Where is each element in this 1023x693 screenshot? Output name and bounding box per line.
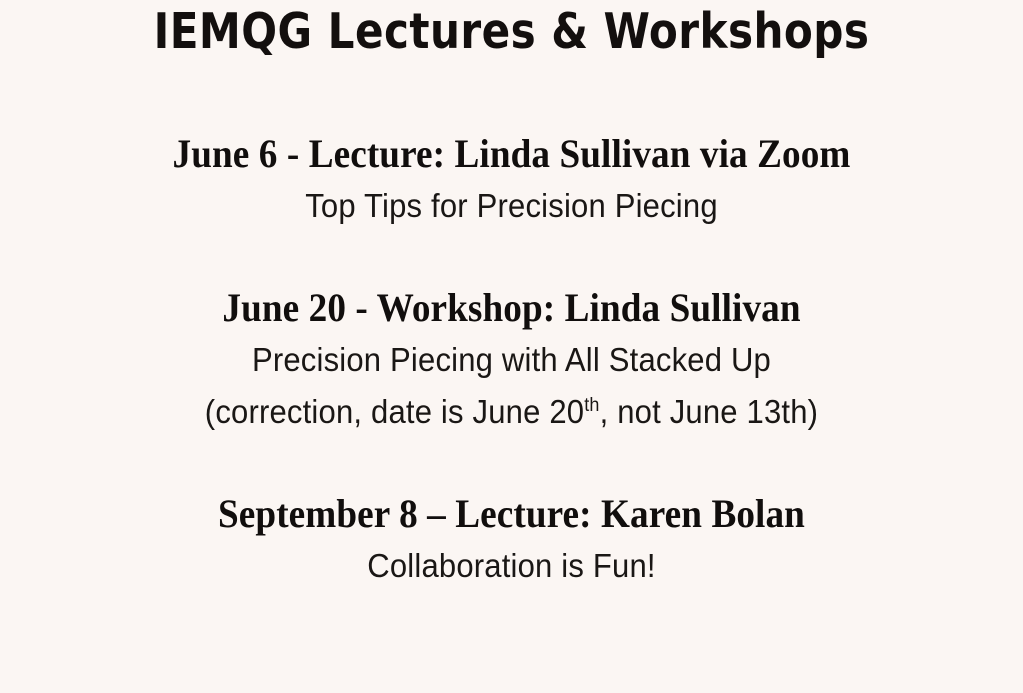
event-subtitle: Collaboration is Fun! [31,540,993,592]
event-block: June 6 - Lecture: Linda Sullivan via Zoo… [0,128,1023,232]
event-block: September 8 – Lecture: Karen Bolan Colla… [0,488,1023,592]
events-list: June 6 - Lecture: Linda Sullivan via Zoo… [0,128,1023,592]
event-heading: June 6 - Lecture: Linda Sullivan via Zoo… [36,128,987,180]
event-subtitle: Top Tips for Precision Piecing [31,180,993,232]
poster-canvas: IEMQG Lectures & Workshops June 6 - Lect… [0,0,1023,693]
event-heading: September 8 – Lecture: Karen Bolan [36,488,987,540]
page-title: IEMQG Lectures & Workshops [72,2,952,62]
correction-suffix: , not June 13th) [600,393,819,430]
event-correction-note: (correction, date is June 20th, not June… [31,386,993,438]
ordinal-superscript: th [584,395,599,416]
event-block: June 20 - Workshop: Linda Sullivan Preci… [0,282,1023,438]
event-subtitle: Precision Piecing with All Stacked Up [31,334,993,386]
correction-prefix: (correction, date is June 20 [205,393,584,430]
event-heading: June 20 - Workshop: Linda Sullivan [36,282,987,334]
